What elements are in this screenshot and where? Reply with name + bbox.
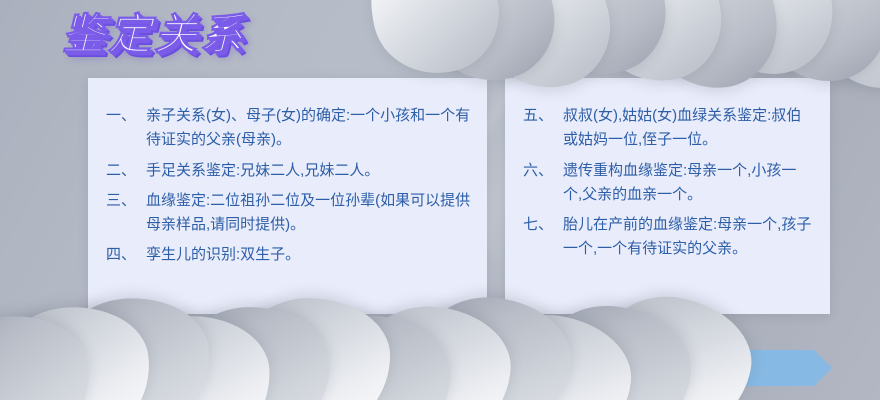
- brand-name-block: 万核基因 WAN HE GENE: [752, 16, 859, 64]
- relationship-list-left: 一、亲子关系(女)、母子(女)的确定:一个小孩和一个有待证实的父亲(母亲)。二、…: [106, 104, 471, 268]
- list-item: 一、亲子关系(女)、母子(女)的确定:一个小孩和一个有待证实的父亲(母亲)。: [106, 104, 471, 153]
- petal-shape-icon: [354, 0, 512, 87]
- slide-canvas: 鉴定关系: [0, 0, 880, 400]
- relationship-card-right: 五、叔叔(女),姑姑(女)血绿关系鉴定:叔伯或姑妈一位,侄子一位。六、遗传重构血…: [505, 78, 830, 314]
- list-item: 二、手足关系鉴定:兄妹二人,兄妹二人。: [106, 159, 471, 183]
- page-title: 鉴定关系: [62, 14, 246, 57]
- brand-mark-caption: 万核基因: [684, 49, 720, 61]
- list-item-text: 血缘鉴定:二位祖孙二位及一位孙辈(如果可以提供母亲样品,请同时提供)。: [146, 189, 471, 238]
- petal-shape-icon: [868, 0, 880, 79]
- list-item: 四、孪生儿的识别:双生子。: [106, 243, 471, 267]
- list-item-text: 胎儿在产前的血缘鉴定:母亲一个,孩子一个,一个有待证实的父亲。: [563, 213, 814, 262]
- list-item-number: 五、: [523, 104, 563, 128]
- list-item: 七、胎儿在产前的血缘鉴定:母亲一个,孩子一个,一个有待证实的父亲。: [523, 213, 814, 262]
- list-item-text: 手足关系鉴定:兄妹二人,兄妹二人。: [146, 159, 471, 183]
- list-item: 五、叔叔(女),姑姑(女)血绿关系鉴定:叔伯或姑妈一位,侄子一位。: [523, 104, 814, 153]
- list-item: 三、血缘鉴定:二位祖孙二位及一位孙辈(如果可以提供母亲样品,请同时提供)。: [106, 189, 471, 238]
- brand-mark: 万核基因: [672, 20, 734, 61]
- molecule-network-icon: [672, 20, 734, 46]
- list-item-text: 遗传重构血缘鉴定:母亲一个,小孩一个,父亲的血亲一个。: [563, 159, 814, 208]
- brand-name-cn: 万核基因: [755, 16, 855, 48]
- list-item-text: 叔叔(女),姑姑(女)血绿关系鉴定:叔伯或姑妈一位,侄子一位。: [563, 104, 814, 153]
- relationship-list-right: 五、叔叔(女),姑姑(女)血绿关系鉴定:叔伯或姑妈一位,侄子一位。六、遗传重构血…: [523, 104, 814, 262]
- list-item: 六、遗传重构血缘鉴定:母亲一个,小孩一个,父亲的血亲一个。: [523, 159, 814, 208]
- list-item-text: 孪生儿的识别:双生子。: [146, 243, 471, 267]
- petal-shape-icon: [529, 0, 673, 82]
- brand-logo: 万核基因 万核基因 WAN HE GENE: [672, 16, 859, 64]
- list-item-number: 六、: [523, 159, 563, 183]
- list-item-number: 四、: [106, 243, 146, 267]
- list-item-number: 一、: [106, 104, 146, 128]
- list-item-number: 二、: [106, 159, 146, 183]
- list-item-number: 七、: [523, 213, 563, 237]
- relationship-card-left: 一、亲子关系(女)、母子(女)的确定:一个小孩和一个有待证实的父亲(母亲)。二、…: [88, 78, 487, 314]
- list-item-number: 三、: [106, 189, 146, 213]
- address-ribbon: 办理地址：日照莒县故城中路63号（如需办理，需提前预约）: [52, 350, 832, 386]
- list-item-text: 亲子关系(女)、母子(女)的确定:一个小孩和一个有待证实的父亲(母亲)。: [146, 104, 471, 153]
- address-text: 办理地址：日照莒县故城中路63号（如需办理，需提前预约）: [82, 356, 557, 381]
- brand-name-en: WAN HE GENE: [752, 50, 859, 64]
